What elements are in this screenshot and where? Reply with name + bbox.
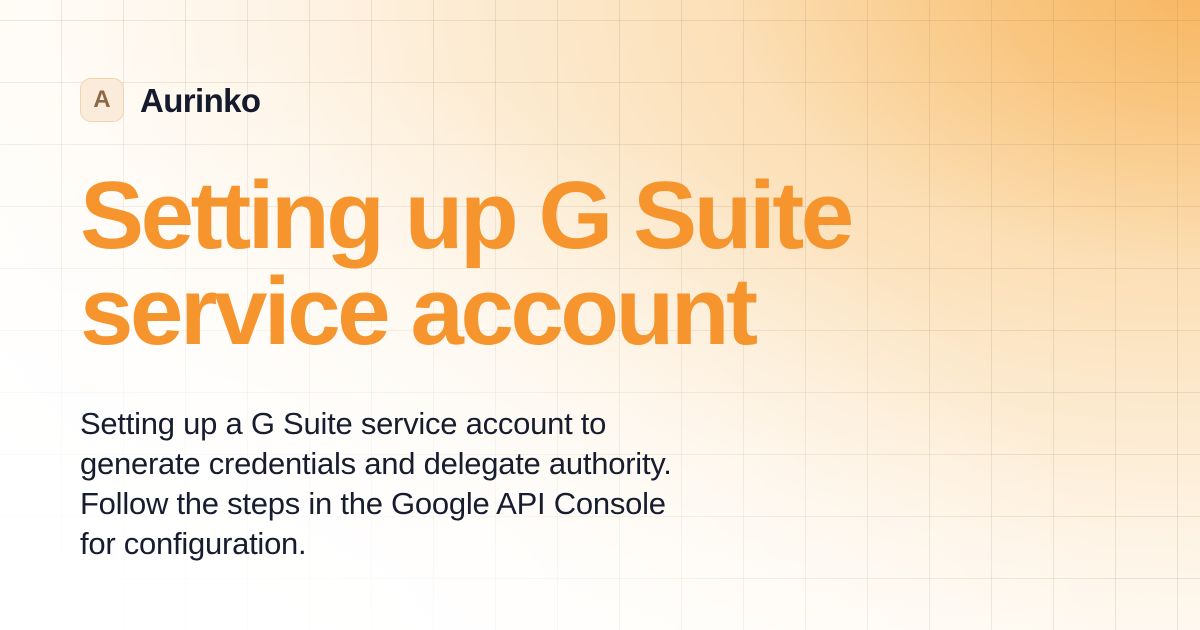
brand-badge-letter: A <box>93 88 111 112</box>
brand-lockup: A Aurinko <box>80 76 1120 124</box>
card-content: A Aurinko Setting up G Suite service acc… <box>80 76 1120 564</box>
aurinko-logo-badge-icon: A <box>80 78 124 122</box>
page-description: Setting up a G Suite service account to … <box>80 404 870 564</box>
brand-name: Aurinko <box>140 84 260 117</box>
page-title: Setting up G Suite service account <box>80 168 960 360</box>
og-card: A Aurinko Setting up G Suite service acc… <box>0 0 1200 630</box>
